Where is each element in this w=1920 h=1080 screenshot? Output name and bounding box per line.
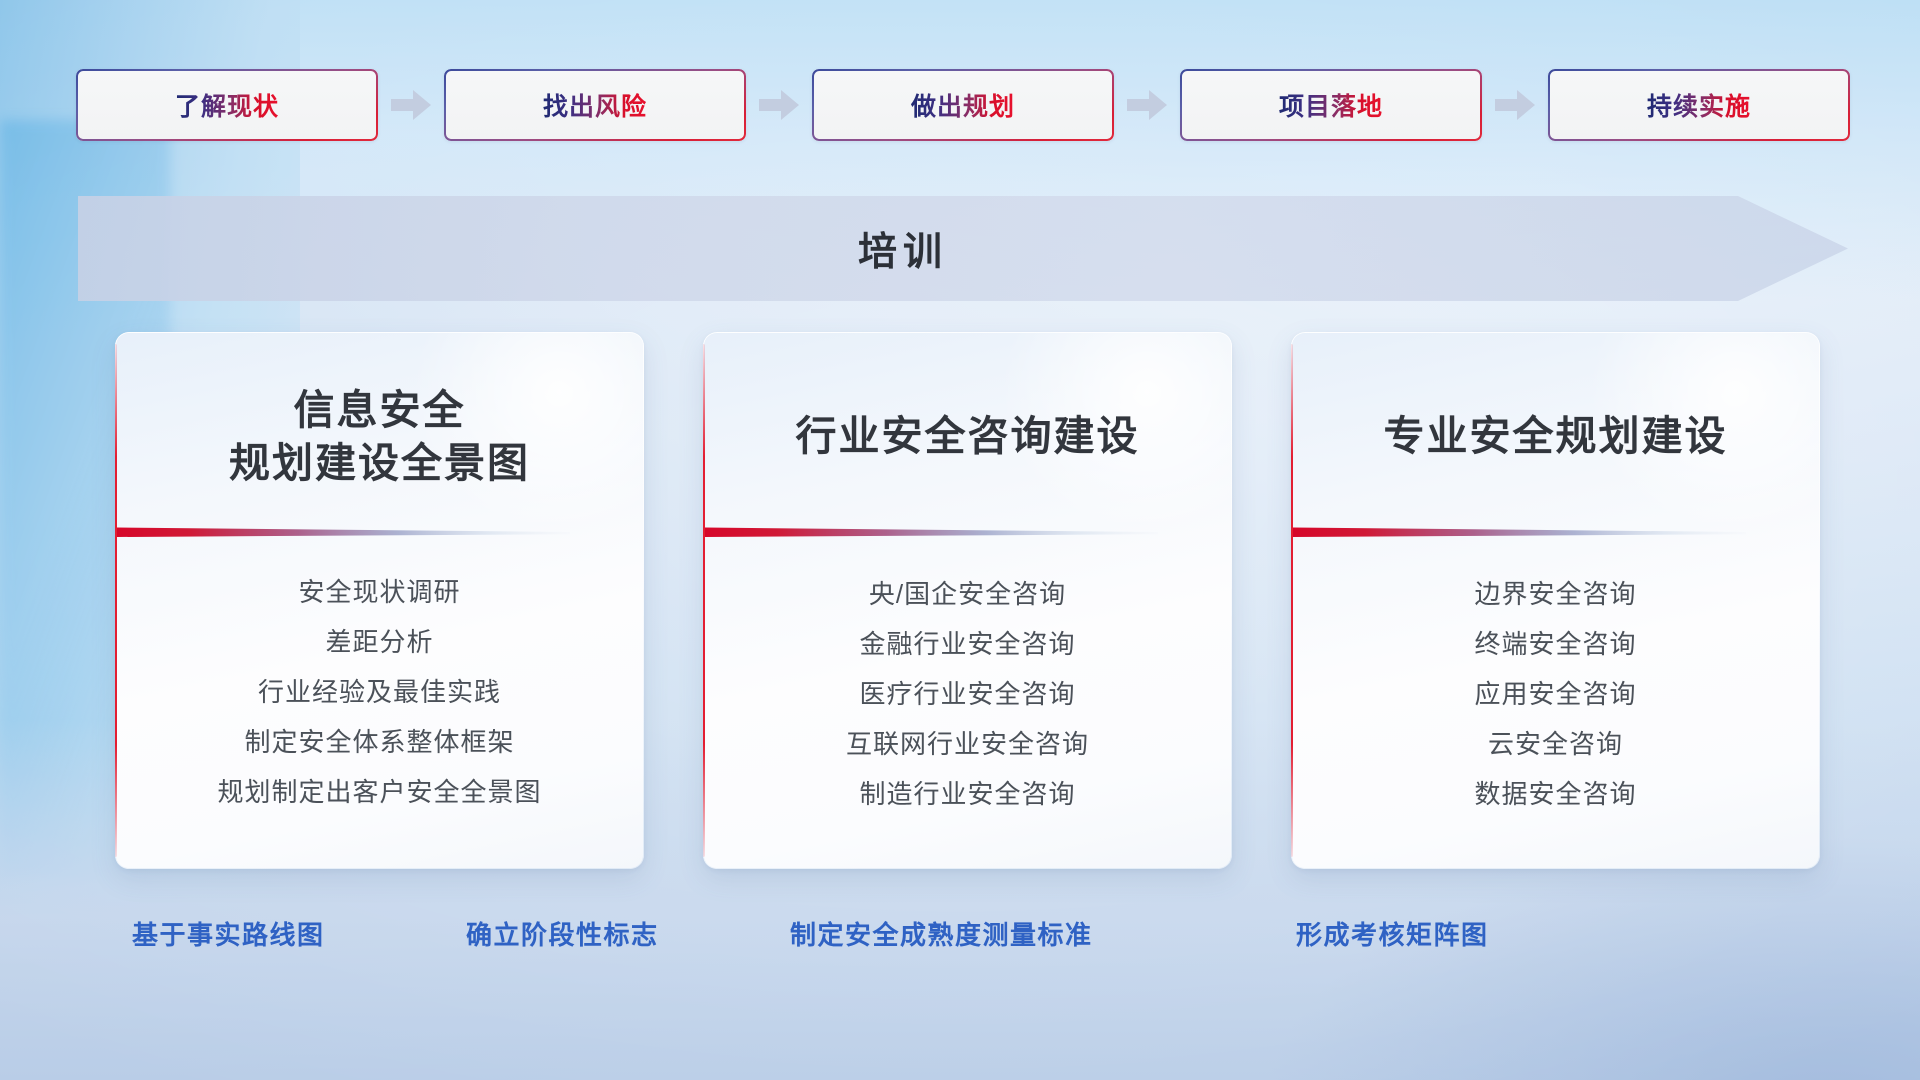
step-label-5: 持续实施	[1647, 87, 1751, 123]
footer-label-1: 基于事实路线图	[132, 915, 325, 952]
card-divider-2	[703, 525, 1232, 539]
divider-gradient-bar	[1291, 525, 1746, 539]
list-item: 医疗行业安全咨询	[703, 669, 1232, 719]
card-item-list-3: 边界安全咨询终端安全咨询应用安全咨询云安全咨询数据安全咨询	[1291, 569, 1820, 819]
step-label-4: 项目落地	[1279, 87, 1383, 123]
list-item: 制造行业安全咨询	[703, 769, 1232, 819]
arrow-right-icon	[1495, 90, 1535, 120]
list-item: 金融行业安全咨询	[703, 619, 1232, 669]
arrow-right-icon	[391, 90, 431, 120]
card-divider-3	[1291, 525, 1820, 539]
divider-gradient-bar	[703, 525, 1158, 539]
capability-card-3[interactable]: 专业安全规划建设 边界安全咨询终端安全咨询应用安全咨询云安全咨询数据安全咨询	[1291, 332, 1820, 869]
banner-label: 培训	[78, 196, 1848, 301]
list-item: 数据安全咨询	[1291, 769, 1820, 819]
step-label-3: 做出规划	[911, 87, 1015, 123]
list-item: 差距分析	[115, 617, 644, 667]
arrow-right-icon	[759, 90, 799, 120]
step-box-4[interactable]: 项目落地	[1180, 69, 1482, 141]
list-item: 云安全咨询	[1291, 719, 1820, 769]
step-arrow-2	[746, 69, 812, 141]
card-title-line: 专业安全规划建设	[1317, 410, 1794, 463]
step-arrow-1	[378, 69, 444, 141]
card-item-list-2: 央/国企安全咨询金融行业安全咨询医疗行业安全咨询互联网行业安全咨询制造行业安全咨…	[703, 569, 1232, 819]
card-title-3: 专业安全规划建设	[1291, 410, 1820, 463]
step-label-2: 找出风险	[543, 87, 647, 123]
arrow-right-icon	[1127, 90, 1167, 120]
card-title-line: 信息安全	[141, 384, 618, 437]
list-item: 行业经验及最佳实践	[115, 667, 644, 717]
card-title-line: 行业安全咨询建设	[729, 410, 1206, 463]
capability-card-2[interactable]: 行业安全咨询建设 央/国企安全咨询金融行业安全咨询医疗行业安全咨询互联网行业安全…	[703, 332, 1232, 869]
footer-label-3: 制定安全成熟度测量标准	[790, 915, 1093, 952]
step-box-2[interactable]: 找出风险	[444, 69, 746, 141]
list-item: 规划制定出客户安全全景图	[115, 767, 644, 817]
process-step-flow: 了解现状 找出风险 做出规划 项目落地 持续实施	[0, 66, 1920, 144]
list-item: 安全现状调研	[115, 567, 644, 617]
step-label-1: 了解现状	[175, 87, 279, 123]
step-box-1[interactable]: 了解现状	[76, 69, 378, 141]
card-title-1: 信息安全规划建设全景图	[115, 384, 644, 491]
card-item-list-1: 安全现状调研差距分析行业经验及最佳实践制定安全体系整体框架规划制定出客户安全全景…	[115, 567, 644, 817]
capability-cards: 信息安全规划建设全景图 安全现状调研差距分析行业经验及最佳实践制定安全体系整体框…	[0, 332, 1920, 888]
capability-card-1[interactable]: 信息安全规划建设全景图 安全现状调研差距分析行业经验及最佳实践制定安全体系整体框…	[115, 332, 644, 869]
step-arrow-3	[1114, 69, 1180, 141]
card-title-2: 行业安全咨询建设	[703, 410, 1232, 463]
divider-gradient-bar	[115, 525, 570, 539]
training-banner: 培训	[78, 196, 1848, 301]
list-item: 终端安全咨询	[1291, 619, 1820, 669]
card-title-line: 规划建设全景图	[141, 437, 618, 490]
list-item: 互联网行业安全咨询	[703, 719, 1232, 769]
step-box-5[interactable]: 持续实施	[1548, 69, 1850, 141]
list-item: 应用安全咨询	[1291, 669, 1820, 719]
list-item: 制定安全体系整体框架	[115, 717, 644, 767]
footer-label-4: 形成考核矩阵图	[1296, 915, 1489, 952]
footer-outcome-labels: 基于事实路线图确立阶段性标志制定安全成熟度测量标准形成考核矩阵图	[0, 915, 1920, 967]
step-box-3[interactable]: 做出规划	[812, 69, 1114, 141]
step-arrow-4	[1482, 69, 1548, 141]
footer-label-2: 确立阶段性标志	[466, 915, 659, 952]
list-item: 央/国企安全咨询	[703, 569, 1232, 619]
card-divider-1	[115, 525, 644, 539]
list-item: 边界安全咨询	[1291, 569, 1820, 619]
